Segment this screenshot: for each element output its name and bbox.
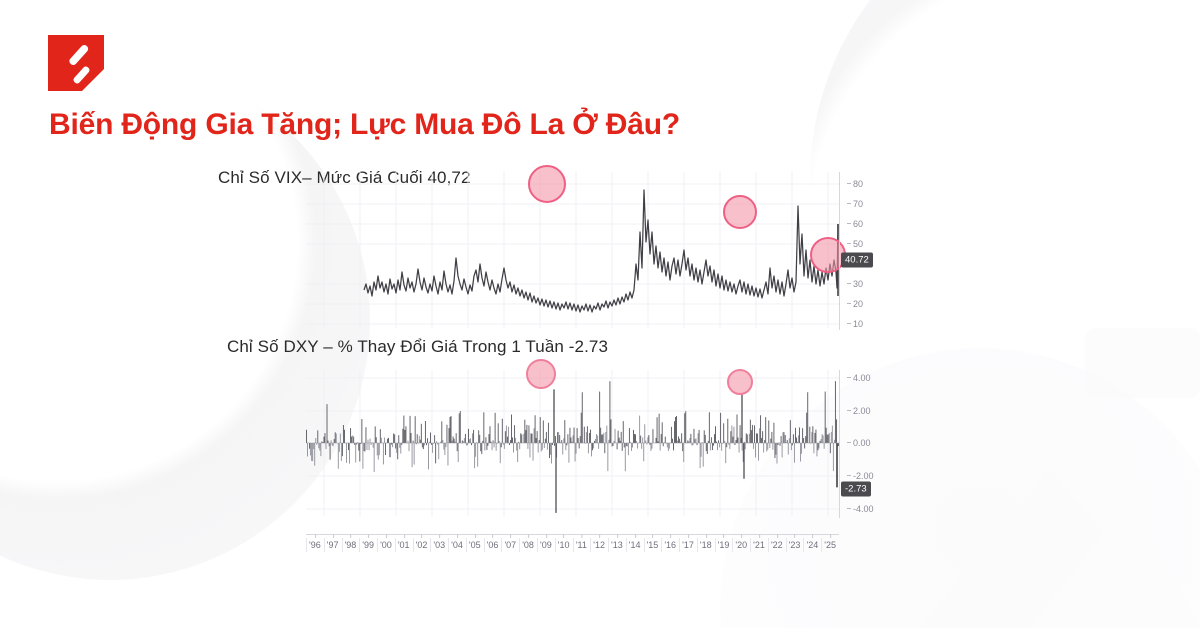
x-axis-tick: '16 [664,540,676,550]
dxy-last-value-badge: -2.73 [841,482,871,497]
x-axis-separator [466,538,467,552]
x-axis-tick: '01 [398,540,410,550]
vix-line-plot [306,172,839,328]
x-axis-tick: '22 [771,540,783,550]
x-axis-tick: '08 [522,540,534,550]
dxy-bar-plot [306,370,839,516]
vix-y-axis: 80 70 60 50 30 20 10 [845,172,905,330]
x-axis-separator [501,538,502,552]
x-axis-tick: '04 [451,540,463,550]
x-axis-tick: '06 [487,540,499,550]
x-axis-tick: '05 [469,540,481,550]
x-axis-separator [359,538,360,552]
x-axis-tick: '13 [611,540,623,550]
x-axis-tick: '14 [629,540,641,550]
x-axis-tick: '99 [362,540,374,550]
x-axis-separator [786,538,787,552]
dxy-highlight-marker-2020 [727,369,753,395]
x-axis-separator [306,538,307,552]
x-axis-tick: '96 [309,540,321,550]
vix-ytick: 50 [853,239,863,249]
vix-ytick: 80 [853,179,863,189]
x-axis-separator [342,538,343,552]
vix-ytick: 70 [853,199,863,209]
vix-axis-spine [839,172,840,330]
vix-ytick: 30 [853,279,863,289]
dxy-ytick: 4.00 [853,373,871,383]
x-axis-tick: '09 [540,540,552,550]
x-axis-tick: '00 [380,540,392,550]
x-axis-tick: '15 [647,540,659,550]
chart-figure: Chỉ Số VIX– Mức Giá Cuối 40,72 [0,0,1200,628]
x-axis-separator [537,538,538,552]
vix-ytick: 20 [853,299,863,309]
x-axis-separator [608,538,609,552]
dxy-ytick: -4.00 [853,504,874,514]
x-axis-separator [395,538,396,552]
x-axis-separator [519,538,520,552]
vix-ytick: 10 [853,319,863,329]
x-axis-tick: '98 [345,540,357,550]
x-axis-separator [732,538,733,552]
x-axis-tick: '25 [824,540,836,550]
dxy-panel-title: Chỉ Số DXY – % Thay Đổi Giá Trong 1 Tuần… [227,337,608,357]
vix-highlight-marker-2020 [723,195,757,229]
x-axis-tick: '11 [576,540,587,550]
x-axis-separator [768,538,769,552]
x-axis: '96'97'98'99'00'01'02'03'04'05'06'07'08'… [306,534,839,560]
x-axis-separator [324,538,325,552]
x-axis-separator [377,538,378,552]
x-axis-tick: '12 [593,540,605,550]
infographic-canvas: Biến Động Gia Tăng; Lực Mua Đô La Ở Đâu?… [0,0,1200,628]
x-axis-separator [821,538,822,552]
vix-highlight-marker-2008 [528,165,566,203]
x-axis-separator [590,538,591,552]
x-axis-separator [626,538,627,552]
x-axis-tick: '17 [682,540,694,550]
vix-ytick: 60 [853,219,863,229]
x-axis-separator [573,538,574,552]
x-axis-separator [644,538,645,552]
vix-last-value-badge: 40.72 [841,253,873,268]
x-axis-separator [715,538,716,552]
dxy-ytick: -2.00 [853,471,874,481]
x-axis-tick: '02 [416,540,428,550]
dxy-ytick: 2.00 [853,406,871,416]
x-axis-separator [803,538,804,552]
dxy-axis-spine [839,370,840,518]
x-axis-separator [484,538,485,552]
x-axis-separator [697,538,698,552]
x-axis-tick: '97 [327,540,339,550]
x-axis-tick: '18 [700,540,712,550]
dxy-ytick: 0.00 [853,438,871,448]
x-axis-separator [679,538,680,552]
x-axis-separator [750,538,751,552]
x-axis-tick: '19 [718,540,730,550]
x-axis-separator [413,538,414,552]
x-axis-tick: '10 [558,540,570,550]
x-axis-separator [555,538,556,552]
x-axis-separator [430,538,431,552]
x-axis-tick: '21 [753,540,765,550]
x-axis-tick: '24 [806,540,818,550]
dxy-highlight-marker-2008 [526,359,556,389]
x-axis-tick: '03 [433,540,445,550]
x-axis-separator [661,538,662,552]
x-axis-tick: '20 [735,540,747,550]
x-axis-separator [448,538,449,552]
x-axis-tick: '23 [789,540,801,550]
x-axis-tick: '07 [504,540,516,550]
